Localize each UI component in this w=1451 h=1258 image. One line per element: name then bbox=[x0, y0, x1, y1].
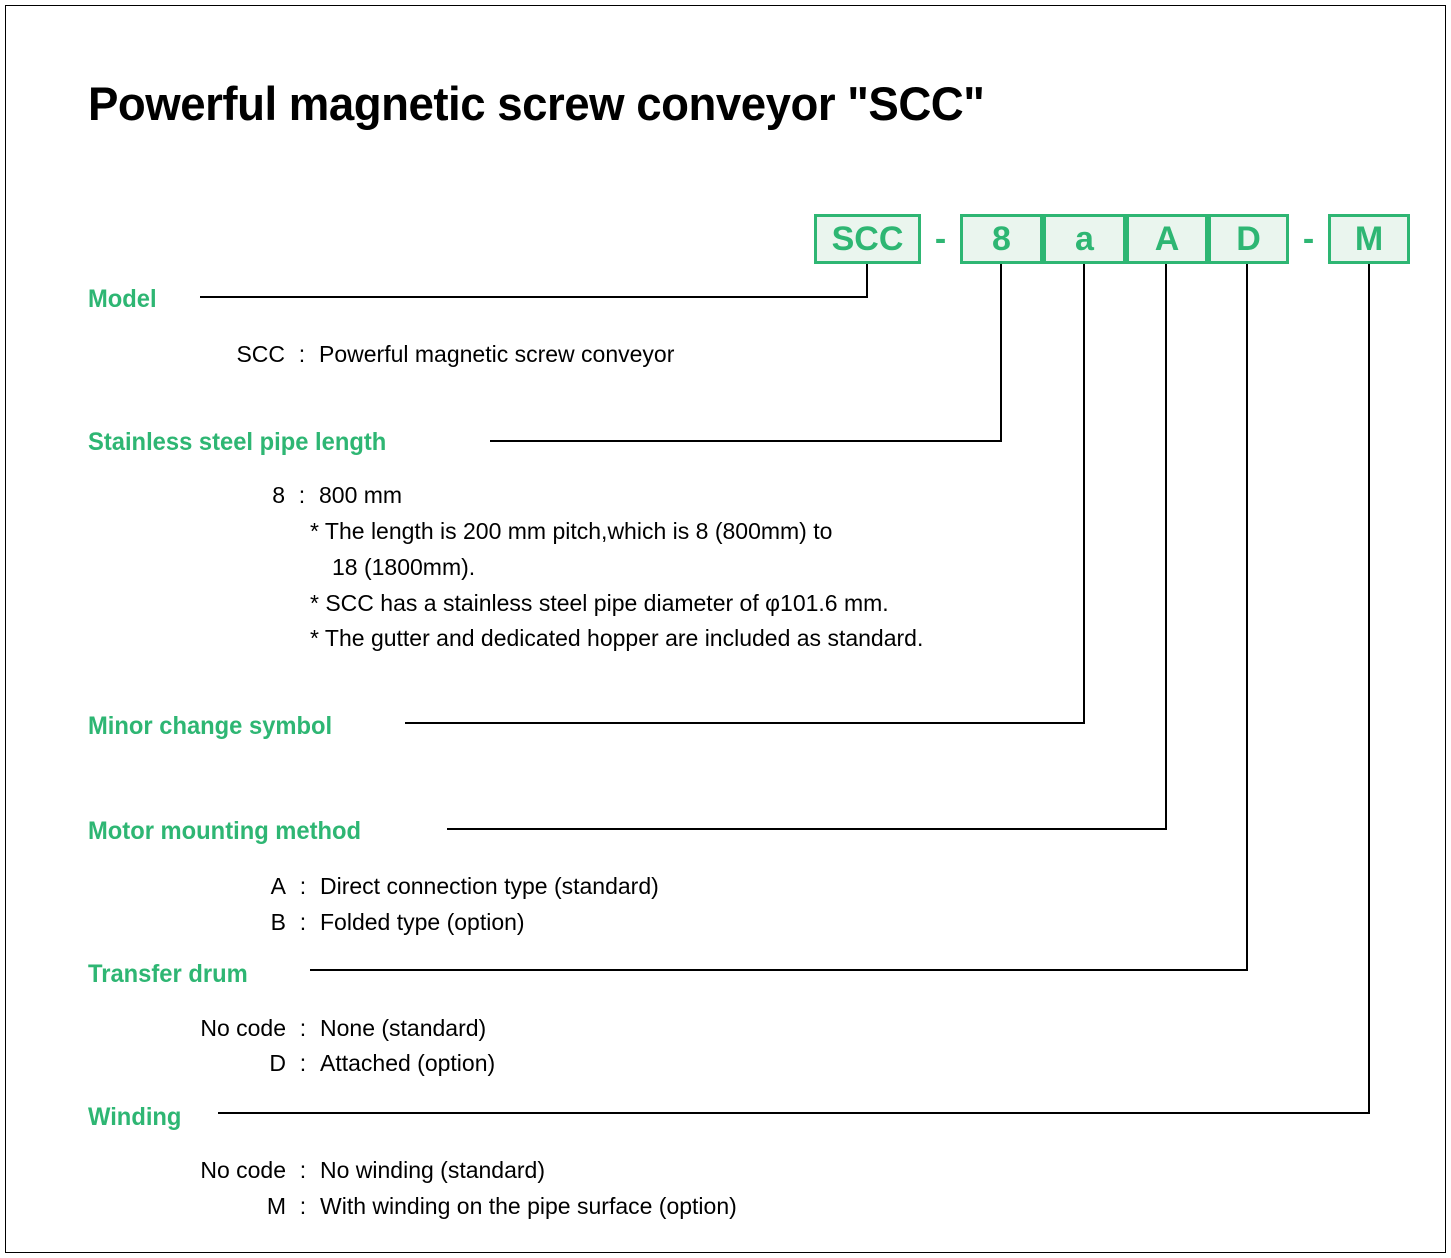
leader-line-winding-horizontal bbox=[218, 1112, 1370, 1114]
row-code: 8 bbox=[230, 482, 285, 509]
leader-line-transfer-drum-vertical bbox=[1246, 264, 1248, 971]
leader-line-minor-change-vertical bbox=[1083, 264, 1085, 724]
note-line: * SCC has a stainless steel pipe diamete… bbox=[310, 590, 889, 617]
row-text: Direct connection type (standard) bbox=[320, 873, 659, 899]
row-colon: : bbox=[285, 482, 319, 509]
row-code: SCC bbox=[230, 341, 285, 368]
section-heading-pipe-length: Stainless steel pipe length bbox=[88, 428, 386, 457]
row-code: B bbox=[258, 909, 286, 936]
table-row: B:Folded type (option) bbox=[258, 909, 525, 936]
leader-line-pipe-length-vertical bbox=[1000, 264, 1002, 442]
section-heading-transfer-drum: Transfer drum bbox=[88, 960, 248, 989]
leader-line-model-horizontal bbox=[200, 296, 868, 298]
leader-line-minor-change-horizontal bbox=[405, 722, 1085, 724]
page-title: Powerful magnetic screw conveyor "SCC" bbox=[88, 76, 984, 131]
row-colon: : bbox=[286, 909, 320, 936]
row-code: No code bbox=[190, 1157, 286, 1184]
row-text: Folded type (option) bbox=[320, 909, 525, 935]
table-row: M:With winding on the pipe surface (opti… bbox=[190, 1193, 737, 1220]
row-text: Attached (option) bbox=[320, 1050, 495, 1076]
code-box-pipe-length[interactable]: 8 bbox=[960, 214, 1043, 264]
table-row: 8:800 mm bbox=[230, 482, 402, 509]
row-text: No winding (standard) bbox=[320, 1157, 545, 1183]
code-box-transfer-drum[interactable]: D bbox=[1208, 214, 1289, 264]
section-heading-model: Model bbox=[88, 285, 157, 314]
row-colon: : bbox=[286, 1015, 320, 1042]
note-line: * The length is 200 mm pitch,which is 8 … bbox=[310, 518, 832, 545]
model-code-diagram-page: Powerful magnetic screw conveyor "SCC" S… bbox=[0, 0, 1451, 1258]
row-text: 800 mm bbox=[319, 482, 402, 508]
leader-line-model-vertical bbox=[866, 264, 868, 297]
leader-line-winding-vertical bbox=[1368, 264, 1370, 1114]
leader-line-motor-mounting-horizontal bbox=[447, 828, 1167, 830]
note-line: 18 (1800mm). bbox=[332, 554, 475, 581]
table-row: A:Direct connection type (standard) bbox=[258, 873, 659, 900]
row-code: No code bbox=[190, 1015, 286, 1042]
row-code: A bbox=[258, 873, 286, 900]
section-heading-minor-change: Minor change symbol bbox=[88, 712, 332, 741]
row-colon: : bbox=[286, 873, 320, 900]
code-box-winding[interactable]: M bbox=[1328, 214, 1410, 264]
leader-line-motor-mounting-vertical bbox=[1165, 264, 1167, 830]
row-text: Powerful magnetic screw conveyor bbox=[319, 341, 674, 367]
code-box-model[interactable]: SCC bbox=[814, 214, 921, 264]
section-heading-winding: Winding bbox=[88, 1103, 181, 1132]
row-colon: : bbox=[285, 341, 319, 368]
row-code: D bbox=[190, 1050, 286, 1077]
code-box-motor-mounting[interactable]: A bbox=[1126, 214, 1208, 264]
row-text: None (standard) bbox=[320, 1015, 486, 1041]
leader-line-pipe-length-horizontal bbox=[490, 440, 1002, 442]
code-box-minor-change[interactable]: a bbox=[1043, 214, 1126, 264]
table-row: SCC:Powerful magnetic screw conveyor bbox=[230, 341, 674, 368]
table-row: D:Attached (option) bbox=[190, 1050, 495, 1077]
row-code: M bbox=[190, 1193, 286, 1220]
code-separator-1: - bbox=[921, 214, 960, 264]
code-separator-2: - bbox=[1289, 214, 1328, 264]
row-text: With winding on the pipe surface (option… bbox=[320, 1193, 737, 1219]
row-colon: : bbox=[286, 1157, 320, 1184]
leader-line-transfer-drum-horizontal bbox=[310, 969, 1248, 971]
table-row: No code:None (standard) bbox=[190, 1015, 486, 1042]
note-line: * The gutter and dedicated hopper are in… bbox=[310, 625, 923, 652]
table-row: No code:No winding (standard) bbox=[190, 1157, 545, 1184]
section-heading-motor-mounting: Motor mounting method bbox=[88, 817, 399, 846]
row-colon: : bbox=[286, 1193, 320, 1220]
row-colon: : bbox=[286, 1050, 320, 1077]
